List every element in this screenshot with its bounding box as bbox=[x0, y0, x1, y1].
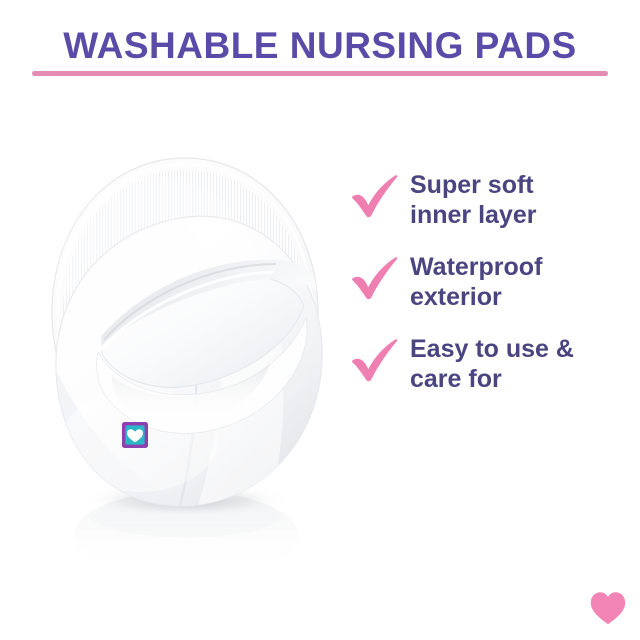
benefits-list: Super soft inner layer Waterproof exteri… bbox=[350, 168, 630, 414]
benefit-item: Easy to use & care for bbox=[350, 332, 630, 394]
benefit-item: Waterproof exterior bbox=[350, 250, 630, 312]
product-stage bbox=[30, 140, 340, 560]
brand-tag bbox=[122, 422, 148, 448]
product-infographic: WASHABLE NURSING PADS bbox=[0, 0, 640, 640]
check-icon bbox=[350, 171, 400, 221]
benefit-label: Waterproof exterior bbox=[410, 250, 630, 312]
product-image bbox=[30, 140, 340, 560]
heart-icon bbox=[591, 592, 625, 624]
check-icon bbox=[350, 335, 400, 385]
brand-logo bbox=[589, 590, 627, 626]
benefit-label: Easy to use & care for bbox=[410, 332, 630, 394]
check-icon bbox=[350, 253, 400, 303]
benefit-item: Super soft inner layer bbox=[350, 168, 630, 230]
title-underline-divider bbox=[32, 71, 608, 76]
header: WASHABLE NURSING PADS bbox=[0, 0, 640, 95]
benefit-label: Super soft inner layer bbox=[410, 168, 630, 230]
page-title: WASHABLE NURSING PADS bbox=[0, 24, 640, 68]
